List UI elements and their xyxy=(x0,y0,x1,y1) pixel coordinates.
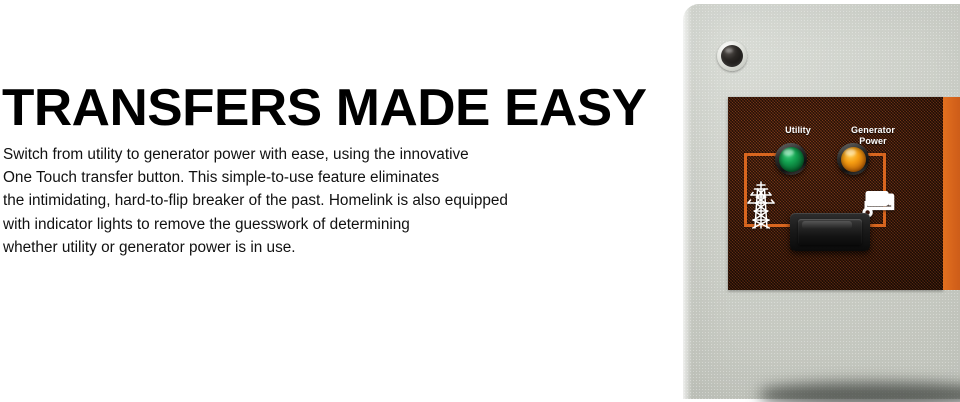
one-touch-transfer-switch[interactable] xyxy=(790,213,870,251)
screw-highlight xyxy=(725,48,733,53)
rocker-sheen xyxy=(802,221,852,229)
orange-accent-stripe xyxy=(943,97,960,290)
body-paragraph: Switch from utility to generator power w… xyxy=(3,143,643,259)
utility-label: Utility xyxy=(763,125,833,136)
copy-block: TRANSFERS MADE EASY Switch from utility … xyxy=(0,0,660,402)
body-line: whether utility or generator power is in… xyxy=(3,236,637,259)
lamp-highlight xyxy=(845,149,856,156)
body-line: Switch from utility to generator power w… xyxy=(3,143,637,166)
transmission-tower-icon xyxy=(744,180,778,230)
control-placard: Utility Generator Power xyxy=(728,97,943,290)
utility-label-text: Utility xyxy=(785,125,811,135)
generator-label-line2: Power xyxy=(859,136,887,146)
body-line: with indicator lights to remove the gues… xyxy=(3,213,637,236)
body-line: One Touch transfer button. This simple-t… xyxy=(3,166,637,189)
utility-indicator xyxy=(775,143,807,175)
body-line: the intimidating, hard-to-flip breaker o… xyxy=(3,189,637,212)
page-title: TRANSFERS MADE EASY xyxy=(2,82,647,134)
promo-banner: TRANSFERS MADE EASY Switch from utility … xyxy=(0,0,960,402)
generator-power-label: Generator Power xyxy=(833,125,913,146)
product-photo: Utility Generator Power xyxy=(660,0,960,402)
cabinet-lock-screw-icon xyxy=(717,41,747,71)
generator-label-line1: Generator xyxy=(851,125,895,135)
drop-shadow xyxy=(760,382,960,402)
lamp-highlight xyxy=(783,149,794,156)
placard-inner: Utility Generator Power xyxy=(728,97,943,290)
generator-power-indicator xyxy=(837,143,869,175)
